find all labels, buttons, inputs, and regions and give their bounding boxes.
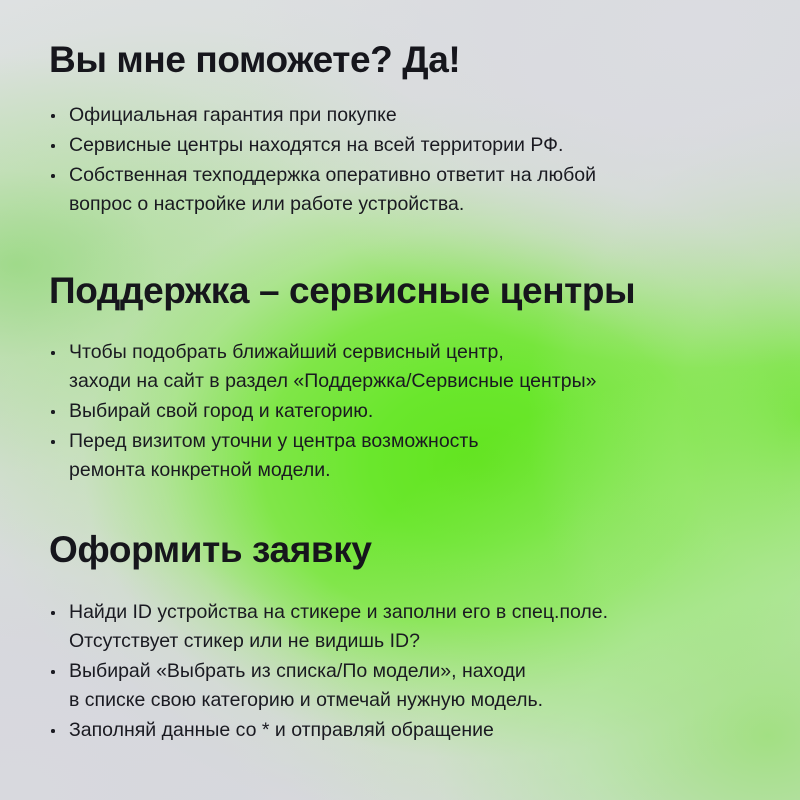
bullet-line: Выбирай свой город и категорию. [69,397,759,426]
poster-canvas: Вы мне поможете? Да! Официальная гаранти… [0,0,800,800]
bullet-list: Найди ID устройства на стикере и заполни… [49,598,759,745]
list-item: Сервисные центры находятся на всей терри… [49,131,759,160]
list-item: Официальная гарантия при покупке [49,101,759,130]
list-item: Найди ID устройства на стикере и заполни… [49,598,759,656]
section-submit-request: Оформить заявку Найди ID устройства на с… [49,528,759,746]
section-heading: Поддержка – сервисные центры [49,269,759,313]
bullet-line: Выбирай «Выбрать из списка/По модели», н… [69,657,759,686]
bullet-line: Найди ID устройства на стикере и заполни… [69,598,759,627]
list-item: Выбирай свой город и категорию. [49,397,759,426]
section-heading: Оформить заявку [49,528,759,572]
bullet-line: ремонта конкретной модели. [69,456,759,485]
list-item: Перед визитом уточни у центра возможност… [49,427,759,485]
bullet-line: в списке свою категорию и отмечай нужную… [69,686,759,715]
bullet-line: Заполняй данные со * и отправляй обращен… [69,716,759,745]
bullet-line: заходи на сайт в раздел «Поддержка/Серви… [69,367,759,396]
bullet-line: Официальная гарантия при покупке [69,101,759,130]
list-item: Собственная техподдержка оперативно отве… [49,161,759,219]
list-item: Чтобы подобрать ближайший сервисный цент… [49,338,759,396]
bullet-line: Перед визитом уточни у центра возможност… [69,427,759,456]
bullet-line: Сервисные центры находятся на всей терри… [69,131,759,160]
section-service-centers: Поддержка – сервисные центры Чтобы подоб… [49,269,759,486]
bullet-line: Отсутствует стикер или не видишь ID? [69,627,759,656]
list-item: Выбирай «Выбрать из списка/По модели», н… [49,657,759,715]
bullet-list: Чтобы подобрать ближайший сервисный цент… [49,338,759,485]
bullet-line: Чтобы подобрать ближайший сервисный цент… [69,338,759,367]
bullet-list: Официальная гарантия при покупке Сервисн… [49,101,759,219]
bullet-line: вопрос о настройке или работе устройства… [69,190,759,219]
section-heading: Вы мне поможете? Да! [49,38,759,82]
list-item: Заполняй данные со * и отправляй обращен… [49,716,759,745]
section-warranty: Вы мне поможете? Да! Официальная гаранти… [49,38,759,220]
bullet-line: Собственная техподдержка оперативно отве… [69,161,759,190]
